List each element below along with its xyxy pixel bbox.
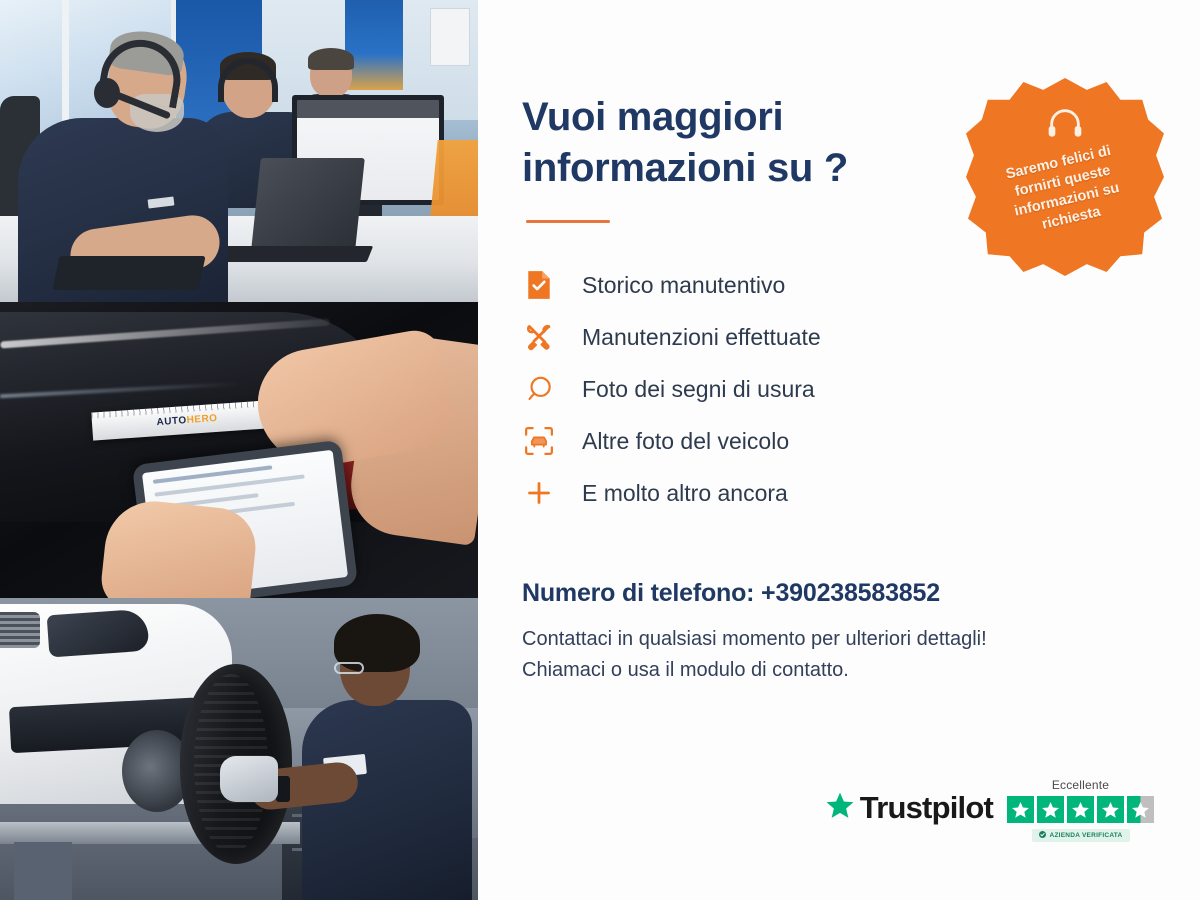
feature-item-molto-altro: E molto altro ancora [522,473,1148,513]
laptop-screen [251,158,365,250]
feature-label: Manutenzioni effettuate [582,326,821,349]
wristwatch [276,776,290,802]
verified-business-badge: AZIENDA VERIFICATA [1032,829,1130,842]
info-panel-page: AUTOHERO [0,0,1200,900]
feature-label: Altre foto del veicolo [582,430,789,453]
title-divider [526,220,610,223]
phone-number-title[interactable]: Numero di telefono: +390238583852 [522,579,1148,608]
contact-block: Numero di telefono: +390238583852 Contat… [522,579,1148,686]
headline-line-2: informazioni su ? [522,146,848,190]
verified-check-icon [1039,831,1046,840]
trustpilot-rating-label: Eccellente [1052,778,1109,792]
mechanic-wheel-photo [0,598,478,900]
promo-badge: Saremo felici di fornirti queste informa… [966,78,1164,276]
car-scan-icon [522,424,556,458]
headset-icon [1045,104,1085,149]
trustpilot-star-icon [825,791,855,825]
page-title: Vuoi maggiori informazioni su ? [522,92,952,194]
feature-label: Storico manutentivo [582,274,785,297]
star-filled [1007,796,1034,823]
feature-label: Foto dei segni di usura [582,378,815,401]
magnifier-icon [522,372,556,406]
lift-post [14,842,72,900]
feature-item-altre-foto-veicolo: Altre foto del veicolo [522,421,1148,461]
wall-notice [430,8,470,66]
laptop-base [207,246,373,262]
contact-subtext-line-1: Contattaci in qualsiasi momento per ulte… [522,628,987,650]
car-grille [0,612,40,648]
feature-list: Storico manutentivo Manutenzioni effettu… [522,265,1148,513]
plus-icon [522,476,556,510]
star-filled [1097,796,1124,823]
feature-item-foto-segni-usura: Foto dei segni di usura [522,369,1148,409]
verified-badge-text: AZIENDA VERIFICATA [1050,832,1123,839]
work-glove [220,756,278,802]
content-panel: Vuoi maggiori informazioni su ? Saremo f… [478,0,1200,900]
headline-line-1: Vuoi maggiori [522,95,783,139]
ruler-brand-auto: AUTO [156,415,187,428]
safety-glasses [334,662,364,674]
star-filled [1067,796,1094,823]
call-center-agents-photo [0,0,478,302]
feature-label: E molto altro ancora [582,482,788,505]
contact-subtext-line-2: Chiamaci o usa il modulo di contatto. [522,659,849,681]
car-headlight [47,609,150,658]
trustpilot-rating: Eccellente [1007,778,1154,842]
trustpilot-stars [1007,796,1154,823]
feature-item-manutenzioni-effettuate: Manutenzioni effettuate [522,317,1148,357]
trustpilot-logo: Trustpilot [825,790,993,842]
document-check-icon [522,268,556,302]
star-half [1127,796,1154,823]
ruler-brand-hero: HERO [186,412,218,425]
trustpilot-wordmark: Trustpilot [860,790,993,826]
photo-collage: AUTOHERO [0,0,478,900]
contact-subtext: Contattaci in qualsiasi momento per ulte… [522,624,1148,686]
desk-tablet [52,256,205,290]
star-filled [1037,796,1064,823]
crossed-tools-icon [522,320,556,354]
car-inspection-ruler-photo: AUTOHERO [0,302,478,598]
mechanic [294,620,472,900]
trustpilot-widget[interactable]: Trustpilot Eccellente [825,778,1154,842]
